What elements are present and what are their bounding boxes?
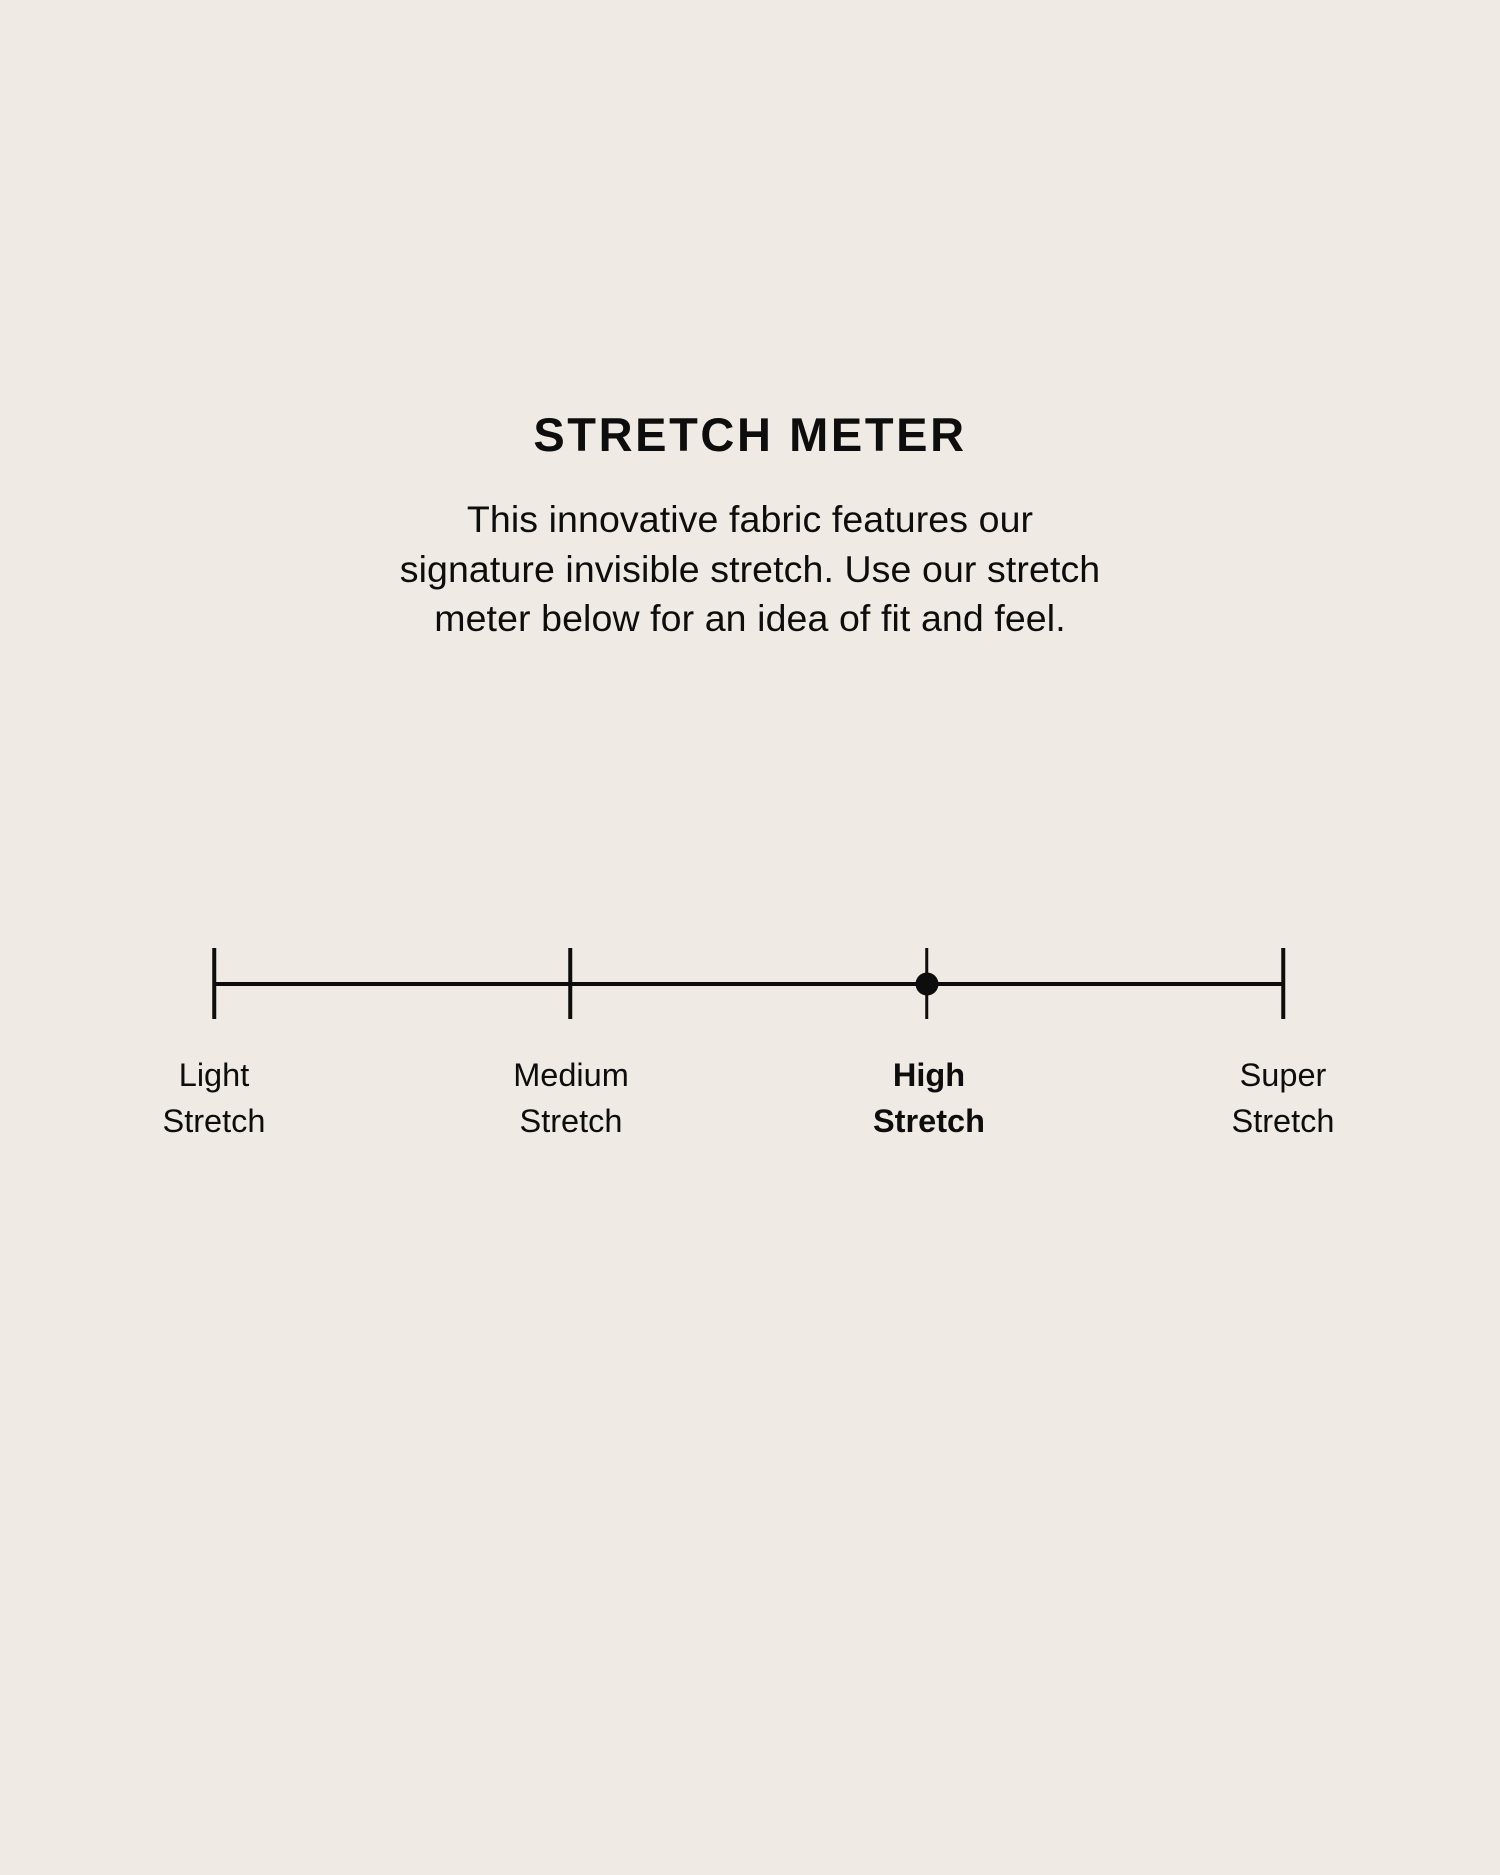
meter-label-high[interactable]: High Stretch bbox=[779, 1052, 1079, 1144]
description-text: This innovative fabric features our sign… bbox=[0, 459, 1500, 644]
page-title: STRETCH METER bbox=[0, 410, 1500, 459]
meter-selected-dot[interactable] bbox=[915, 972, 938, 995]
meter-label-super[interactable]: Super Stretch bbox=[1133, 1052, 1433, 1144]
meter-label-light-line2: Stretch bbox=[64, 1098, 364, 1144]
meter-label-light[interactable]: Light Stretch bbox=[64, 1052, 364, 1144]
description-line-1: This innovative fabric features our bbox=[0, 495, 1500, 545]
meter-label-medium[interactable]: Medium Stretch bbox=[421, 1052, 721, 1144]
meter-label-light-line1: Light bbox=[64, 1052, 364, 1098]
heading-block: STRETCH METER This innovative fabric fea… bbox=[0, 410, 1500, 644]
meter-tick-medium[interactable] bbox=[569, 948, 573, 1019]
meter-labels: Light Stretch Medium Stretch High Stretc… bbox=[0, 1052, 1500, 1162]
meter-label-high-line1: High bbox=[779, 1052, 1079, 1098]
meter-tick-light[interactable] bbox=[212, 948, 216, 1019]
meter-label-high-line2: Stretch bbox=[779, 1098, 1079, 1144]
stretch-meter-page: STRETCH METER This innovative fabric fea… bbox=[0, 0, 1500, 1875]
meter-label-medium-line2: Stretch bbox=[421, 1098, 721, 1144]
description-line-2: signature invisible stretch. Use our str… bbox=[0, 545, 1500, 595]
meter-label-medium-line1: Medium bbox=[421, 1052, 721, 1098]
meter-tick-super[interactable] bbox=[1281, 948, 1285, 1019]
meter-axis-line bbox=[214, 982, 1283, 986]
meter-label-super-line1: Super bbox=[1133, 1052, 1433, 1098]
description-line-3: meter below for an idea of fit and feel. bbox=[0, 594, 1500, 644]
stretch-meter-track[interactable] bbox=[214, 948, 1283, 1020]
meter-label-super-line2: Stretch bbox=[1133, 1098, 1433, 1144]
